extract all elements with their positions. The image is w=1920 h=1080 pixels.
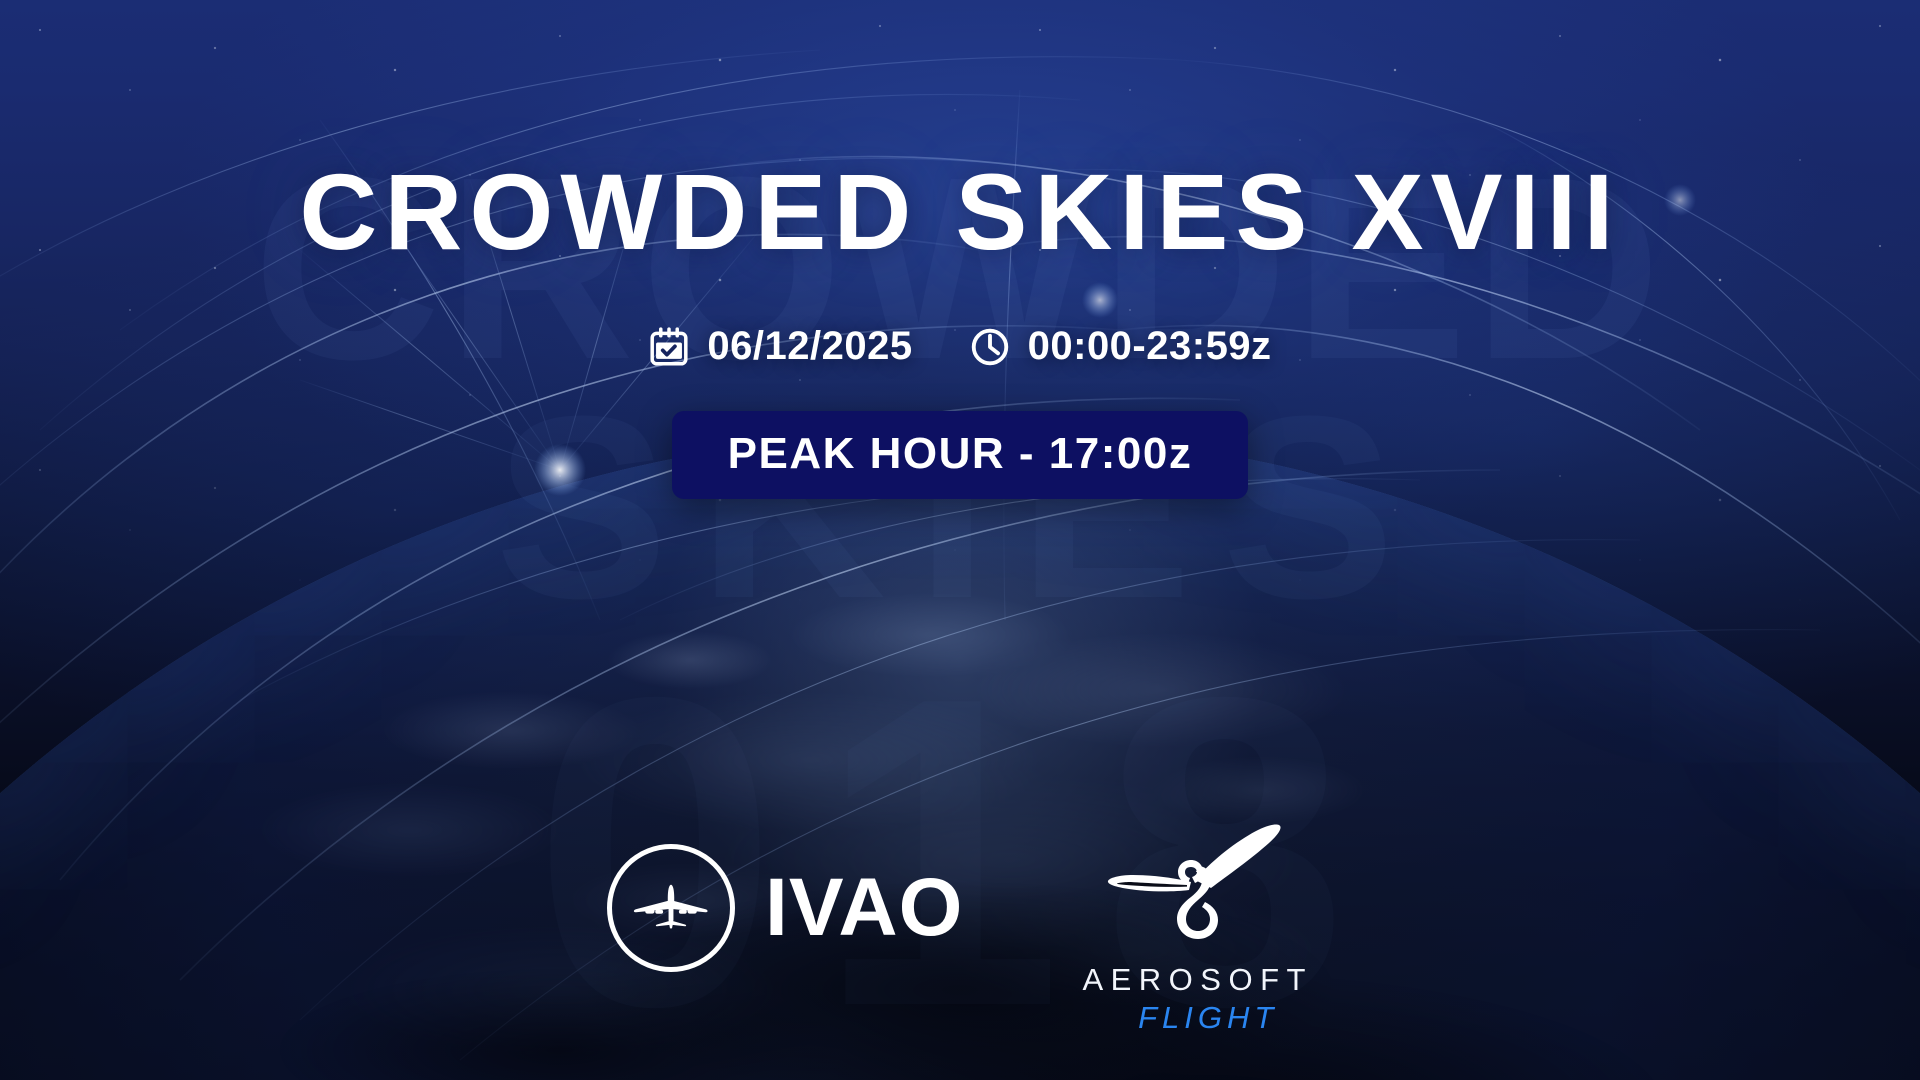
event-meta-row: 06/12/2025 00:00-23:59z — [648, 324, 1271, 369]
event-time: 00:00-23:59z — [969, 324, 1272, 369]
peak-hour-badge: PEAK HOUR - 17:00z — [672, 411, 1249, 499]
clock-icon — [969, 326, 1011, 368]
page-title: CROWDED SKIES XVIII — [299, 158, 1620, 266]
calendar-check-icon — [648, 326, 690, 368]
event-date: 06/12/2025 — [648, 324, 912, 369]
event-time-text: 00:00-23:59z — [1028, 324, 1272, 369]
airplane-front-circle-icon — [607, 844, 735, 972]
aerosoft-logo: AEROSOFT FLIGHT — [1075, 822, 1313, 1033]
aerosoft-subword: FLIGHT — [1110, 1002, 1278, 1033]
aerosoft-bird-icon — [1099, 822, 1289, 954]
sponsor-logos: IVAO — [0, 822, 1920, 1033]
ivao-logo: IVAO — [607, 844, 963, 972]
ivao-wordmark: IVAO — [765, 867, 963, 949]
event-date-text: 06/12/2025 — [707, 324, 912, 369]
aerosoft-wordmark: AEROSOFT — [1075, 964, 1313, 995]
event-poster: CROWDED SKIES 018 CROWDED SKIES XVIII 06… — [0, 0, 1920, 1080]
